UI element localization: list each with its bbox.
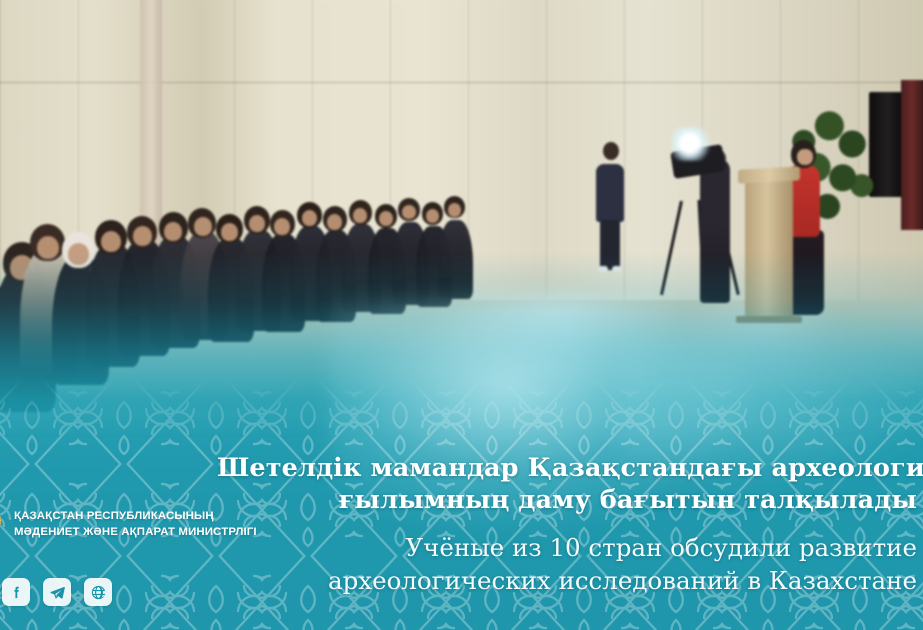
headline-line-1: Шетелдік мамандар Қазақстандағы археолог… [217,452,917,484]
subheadline-line-2: археологических исследований в Казахстан… [217,564,917,597]
telegram-icon[interactable] [43,578,71,606]
ministry-line-2: МӘДЕНИЕТ ЖӘНЕ АҚПАРАТ МИНИСТРЛІГІ [14,524,244,540]
news-banner-card: Шетелдік мамандар Қазақстандағы археолог… [0,0,923,630]
headline: Шетелдік мамандар Қазақстандағы археолог… [217,452,917,516]
subheadline: Учёные из 10 стран обсудили развитие арх… [217,531,917,597]
headline-line-2: ғылымның даму бағытын талқылады [217,484,917,516]
facebook-icon[interactable] [2,578,30,606]
social-links [2,578,112,606]
ministry-line-1: ҚАЗАҚСТАН РЕСПУБЛИКАСЫНЫҢ [14,508,244,524]
website-icon[interactable] [84,578,112,606]
state-emblem-icon [0,505,10,541]
ministry-branding: ҚАЗАҚСТАН РЕСПУБЛИКАСЫНЫҢ МӘДЕНИЕТ ЖӘНЕ … [14,508,244,540]
subheadline-line-1: Учёные из 10 стран обсудили развитие [217,531,917,564]
